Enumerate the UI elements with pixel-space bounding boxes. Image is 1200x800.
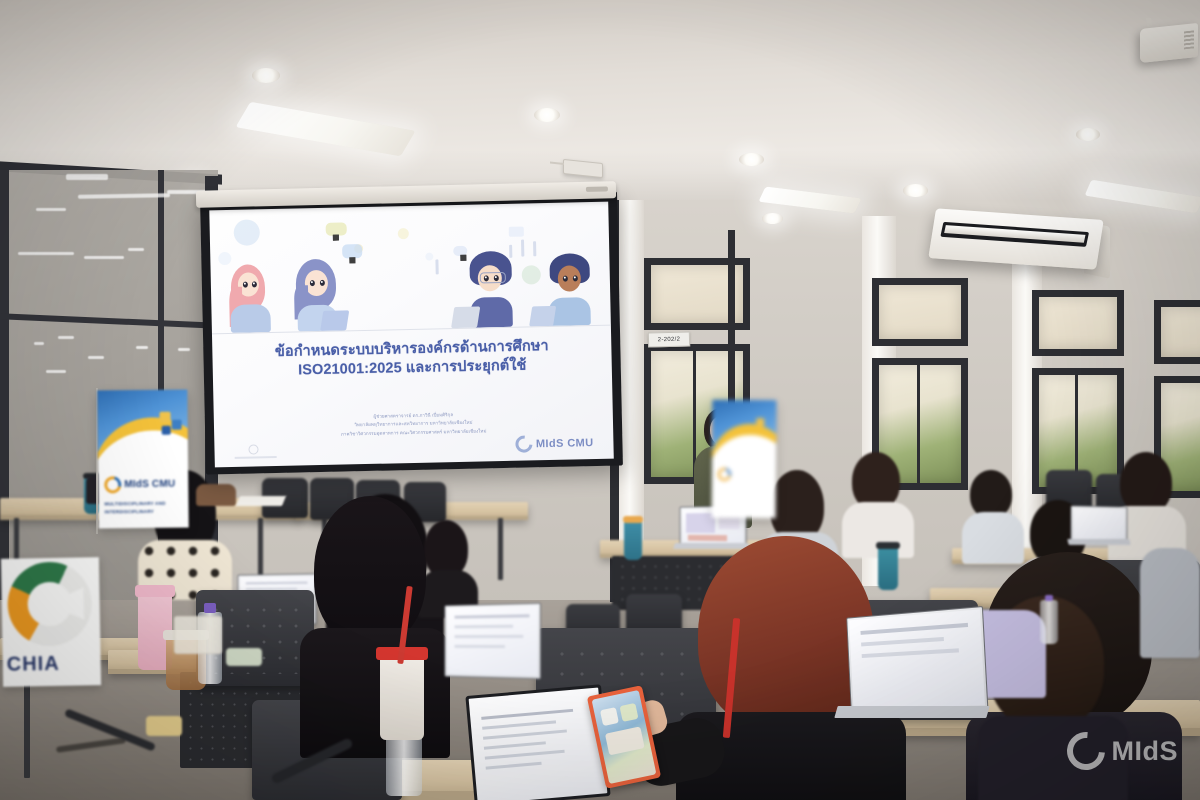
slide-title: ข้อกำหนดระบบบริหารองค์กรด้านการศึกษา ISO…: [228, 336, 596, 383]
tumbler-blue: [624, 520, 642, 560]
mids-watermark-text: MIdS: [1112, 736, 1179, 767]
ceiling-downlight: [534, 108, 560, 122]
seminar-room-photo: 2-202/2: [0, 0, 1200, 800]
chiang-mai-sign-text: CHIA: [7, 653, 60, 677]
window-upper-right: [1032, 290, 1124, 356]
banner-tagline-line2: INTERDISCIPLINARY: [105, 507, 185, 515]
slide-artwork: [209, 202, 611, 334]
window-upper-far-right: [1154, 300, 1200, 364]
slide-mids-cmu-logo: MIdS CMU: [516, 434, 594, 453]
laptop-mid[interactable]: [438, 604, 542, 686]
food-item: [146, 716, 182, 736]
mids-watermark-ring-icon: [1059, 724, 1113, 778]
slide-surface: ข้อกำหนดระบบบริหารองค์กรด้านการศึกษา ISO…: [209, 202, 614, 468]
snack-container: [174, 616, 222, 654]
banner-ring-icon: [101, 473, 124, 496]
banner-logo: MIdS CMU: [104, 475, 175, 493]
audience-foreground-left: [300, 496, 448, 756]
rollup-banner: MIdS CMU MULTIDISCIPLINARY AND INTERDISC…: [97, 390, 188, 529]
red-lid-tumbler: [380, 654, 424, 740]
window-upper-mid: [872, 278, 968, 346]
table-leg: [498, 518, 503, 580]
slide-character: [290, 257, 350, 332]
laptop-right-row[interactable]: [1068, 506, 1130, 546]
ceiling-downlight: [252, 68, 280, 83]
slide-logo-text: MIdS CMU: [536, 437, 594, 450]
food-item: [226, 648, 262, 666]
laptop-foreground[interactable]: [836, 612, 986, 722]
room-number-sign: 2-202/2: [648, 331, 690, 347]
mids-ring-icon: [512, 432, 536, 456]
slide-character: [226, 260, 280, 333]
slide-character: [466, 251, 526, 328]
banner-tagline: MULTIDISCIPLINARY AND INTERDISCIPLINARY: [104, 500, 184, 516]
chiang-mai-logo-sign: CHIA: [1, 557, 101, 687]
audience-gray-shirt: [1140, 538, 1200, 658]
ceiling-projector: [1140, 23, 1198, 63]
bag-on-table-2: [196, 484, 236, 506]
ceiling-downlight: [903, 184, 928, 197]
document-on-table: [236, 496, 286, 506]
slide-corner-mark: [234, 444, 278, 459]
chiang-mai-logo-icon: [7, 561, 92, 646]
ceiling-downlight: [1076, 128, 1100, 141]
banner-logo-text: MIdS CMU: [124, 478, 175, 490]
ac-grille: [940, 222, 1089, 247]
ceiling-downlight: [762, 213, 783, 224]
ceiling-downlight: [739, 153, 764, 166]
projection-screen: ข้อกำหนดระบบบริหารองค์กรด้านการศึกษา ISO…: [200, 191, 623, 474]
mids-watermark: MIdS: [1067, 732, 1179, 770]
rollup-banner-secondary: [712, 400, 777, 518]
water-bottle: [1040, 600, 1058, 644]
slide-character: [545, 253, 603, 326]
audience-member: [962, 470, 1024, 562]
